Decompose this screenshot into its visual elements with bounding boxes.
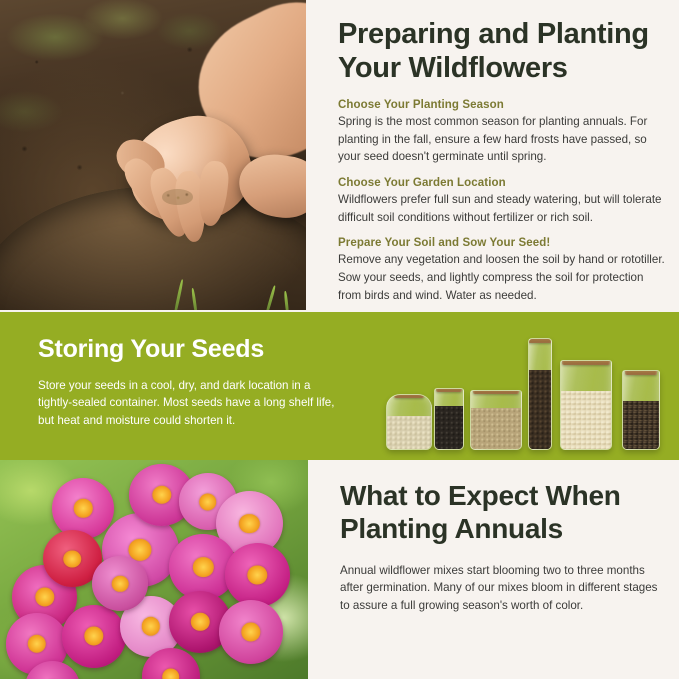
block-planting-season: Choose Your Planting Season Spring is th… (338, 99, 665, 166)
cork-lid-icon (394, 394, 424, 398)
jar-contents (471, 408, 521, 449)
subheading-garden-location: Choose Your Garden Location (338, 177, 665, 189)
preparing-heading: Preparing and Planting Your Wildflowers (338, 18, 665, 85)
storing-heading: Storing Your Seeds (38, 336, 338, 364)
seed-jar-tall-tube (528, 338, 552, 450)
zinnia-bloom (225, 543, 290, 607)
seed-jar-black-seeds (434, 388, 464, 450)
cork-lid-icon (473, 390, 519, 394)
body-planting-season: Spring is the most common season for pla… (338, 113, 665, 166)
expect-body: Annual wildflower mixes start blooming t… (340, 562, 661, 615)
body-prepare-soil: Remove any vegetation and loosen the soi… (338, 251, 665, 304)
soil-planting-photo (0, 0, 306, 310)
section-what-to-expect: What to Expect When Planting Annuals Ann… (0, 460, 679, 679)
zinnia-bloom (92, 556, 147, 611)
body-garden-location: Wildflowers prefer full sun and steady w… (338, 191, 665, 226)
cork-lid-icon (625, 370, 657, 375)
seed-jar-white-beans (386, 394, 432, 450)
seeds-in-hand (162, 189, 193, 205)
expect-text-column: What to Expect When Planting Annuals Ann… (312, 460, 679, 679)
section-preparing-planting: Preparing and Planting Your Wildflowers … (0, 0, 679, 312)
section-storing-seeds: Storing Your Seeds Store your seeds in a… (0, 312, 679, 460)
jar-contents (529, 370, 551, 449)
zinnia-bloom (52, 478, 114, 539)
subheading-prepare-soil: Prepare Your Soil and Sow Your Seed! (338, 237, 665, 249)
storing-body: Store your seeds in a cool, dry, and dar… (38, 377, 338, 431)
seed-jar-sunflower-seeds (622, 370, 660, 450)
zinnia-flowers-photo (0, 460, 308, 679)
cork-lid-icon (436, 388, 462, 392)
subheading-planting-season: Choose Your Planting Season (338, 99, 665, 111)
zinnia-bloom (219, 600, 284, 664)
expect-heading: What to Expect When Planting Annuals (340, 480, 661, 546)
preparing-text-column: Preparing and Planting Your Wildflowers … (312, 0, 679, 312)
block-prepare-soil: Prepare Your Soil and Sow Your Seed! Rem… (338, 237, 665, 304)
jar-contents (387, 416, 431, 449)
jar-contents (435, 406, 463, 449)
seed-jar-tan-grain (470, 390, 522, 450)
jar-contents (561, 391, 611, 449)
storing-text-column: Storing Your Seeds Store your seeds in a… (38, 336, 338, 430)
infographic-page: Preparing and Planting Your Wildflowers … (0, 0, 679, 679)
seed-jars-photo (386, 326, 666, 450)
zinnia-bloom (62, 605, 127, 669)
cork-lid-icon (528, 338, 552, 343)
seed-jar-pumpkin-seeds (560, 360, 612, 450)
block-garden-location: Choose Your Garden Location Wildflowers … (338, 177, 665, 226)
jar-contents (623, 401, 659, 449)
cork-lid-icon (562, 360, 610, 365)
